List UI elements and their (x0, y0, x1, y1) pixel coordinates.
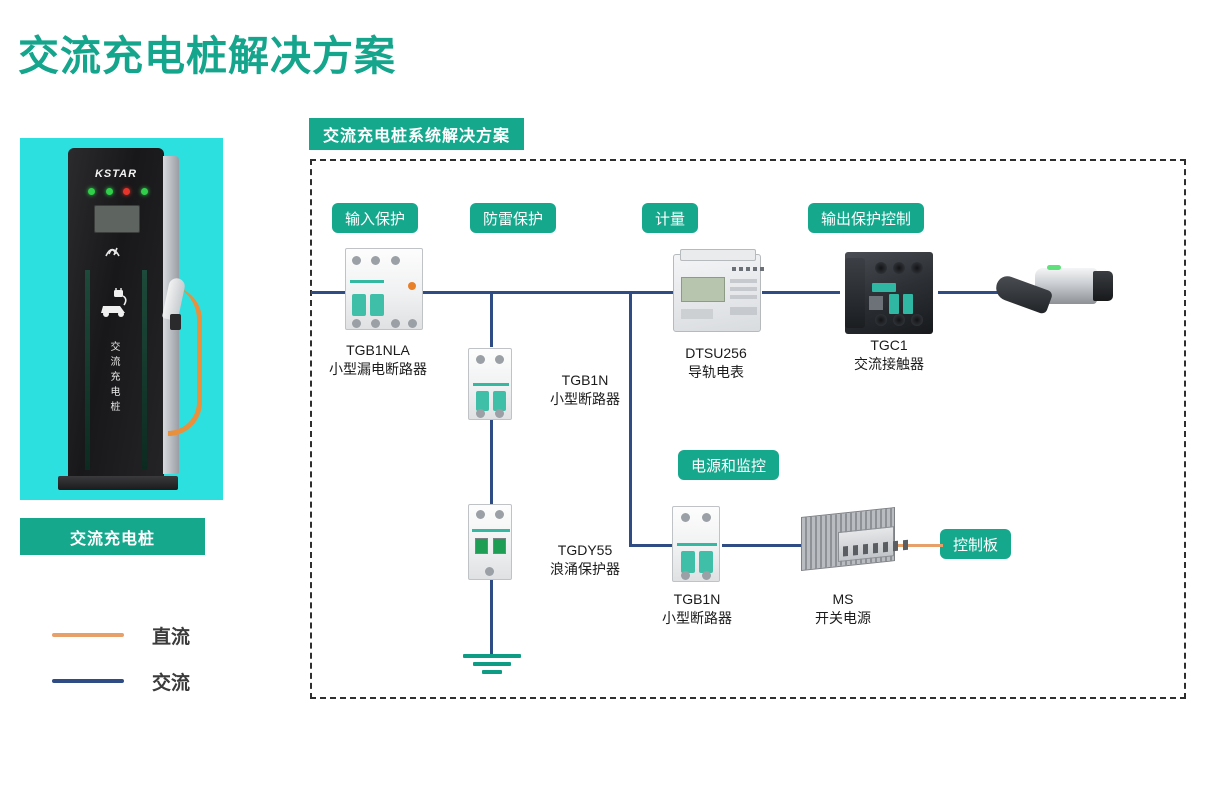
device-name-tgc1: 交流接触器 (854, 356, 924, 372)
legend-item-dc: 直流 (52, 612, 190, 658)
category-pill-output-control: 输出保护控制 (808, 203, 924, 233)
pile-gun-tip (170, 314, 181, 330)
led-green-2 (106, 188, 113, 195)
charging-pile-body: KSTAR (68, 148, 164, 478)
device-mcb-tgb1n-lower (672, 506, 720, 582)
device-name-tgb1n-lower: 小型断路器 (662, 610, 732, 626)
legend-swatch-ac (52, 679, 124, 683)
device-contactor-tgc1 (845, 252, 933, 334)
wire-ac-mcb3-to-psu (722, 544, 802, 547)
led-green-1 (88, 188, 95, 195)
ev-charging-icon (68, 288, 164, 323)
wire-ac-contactor-to-gun (938, 291, 1000, 294)
device-name-ms: 开关电源 (815, 610, 871, 626)
device-model-tgb1n-lower: TGB1N (674, 591, 721, 607)
led-indicator-row (88, 188, 148, 195)
device-meter-dtsu256 (673, 254, 761, 332)
ev-charging-gun (995, 262, 1120, 324)
device-label-contactor: TGC1 交流接触器 (827, 336, 951, 374)
device-label-mcb-lower: TGB1N 小型断路器 (632, 590, 762, 628)
device-psu-ms (801, 512, 895, 566)
pile-vertical-label: 交流充电桩 (68, 340, 164, 415)
legend-item-ac: 交流 (52, 658, 190, 704)
legend-swatch-dc (52, 633, 124, 637)
diagram-banner: 交流充电桩系统解决方案 (309, 118, 524, 150)
device-label-psu: MS 开关电源 (793, 590, 893, 628)
legend-label-ac: 交流 (152, 668, 190, 695)
wire-ac-bus-main (411, 291, 693, 294)
device-label-rcbo: TGB1NLA 小型漏电断路器 (288, 341, 468, 379)
gun-end-cap (1093, 271, 1113, 301)
category-pill-metering: 计量 (642, 203, 698, 233)
device-name-tgdy55: 浪涌保护器 (550, 561, 620, 577)
device-label-meter: DTSU256 导轨电表 (651, 344, 781, 382)
brand-logo-text: KSTAR (68, 168, 164, 180)
device-name-dtsu256: 导轨电表 (688, 364, 744, 380)
wire-ac-mcb2-to-spd (490, 420, 493, 504)
led-red (123, 188, 130, 195)
wire-ac-branch-to-psu-line (629, 291, 632, 545)
wire-ac-branch-to-mcb2 (490, 291, 493, 347)
legend-label-dc: 直流 (152, 622, 190, 649)
category-pill-control-board: 控制板 (940, 529, 1011, 559)
device-mcb-tgb1n-upper (468, 348, 512, 420)
device-name-tgb1n-upper: 小型断路器 (550, 391, 620, 407)
device-model-dtsu256: DTSU256 (685, 345, 746, 361)
device-rcbo-tgb1nla (345, 248, 423, 330)
legend: 直流 交流 (52, 612, 190, 704)
ground-symbol (462, 654, 522, 678)
device-label-spd: TGDY55 浪涌保护器 (520, 541, 650, 579)
device-label-mcb-upper: TGB1N 小型断路器 (520, 371, 650, 409)
category-pill-power-monitor: 电源和监控 (678, 450, 779, 480)
device-model-tgdy55: TGDY55 (558, 542, 612, 558)
gun-status-led (1047, 265, 1061, 270)
device-model-tgb1n-upper: TGB1N (562, 372, 609, 388)
device-model-tgb1nla: TGB1NLA (346, 342, 410, 358)
page-title: 交流充电桩解决方案 (18, 22, 396, 82)
category-pill-surge-protection: 防雷保护 (470, 203, 556, 233)
pile-display-screen (94, 205, 140, 233)
device-model-ms: MS (833, 591, 854, 607)
device-name-tgb1nla: 小型漏电断路器 (329, 361, 427, 377)
product-caption: 交流充电桩 (20, 518, 205, 555)
led-green-3 (141, 188, 148, 195)
wire-ac-spd-to-ground (490, 580, 493, 654)
product-photo: KSTAR (20, 138, 223, 500)
wire-ac-meter-to-contactor (762, 291, 840, 294)
rfid-wave-icon (68, 241, 164, 264)
device-spd-tgdy55 (468, 504, 512, 580)
pile-base-plate (58, 476, 178, 490)
device-model-tgc1: TGC1 (870, 337, 907, 353)
category-pill-input-protection: 输入保护 (332, 203, 418, 233)
